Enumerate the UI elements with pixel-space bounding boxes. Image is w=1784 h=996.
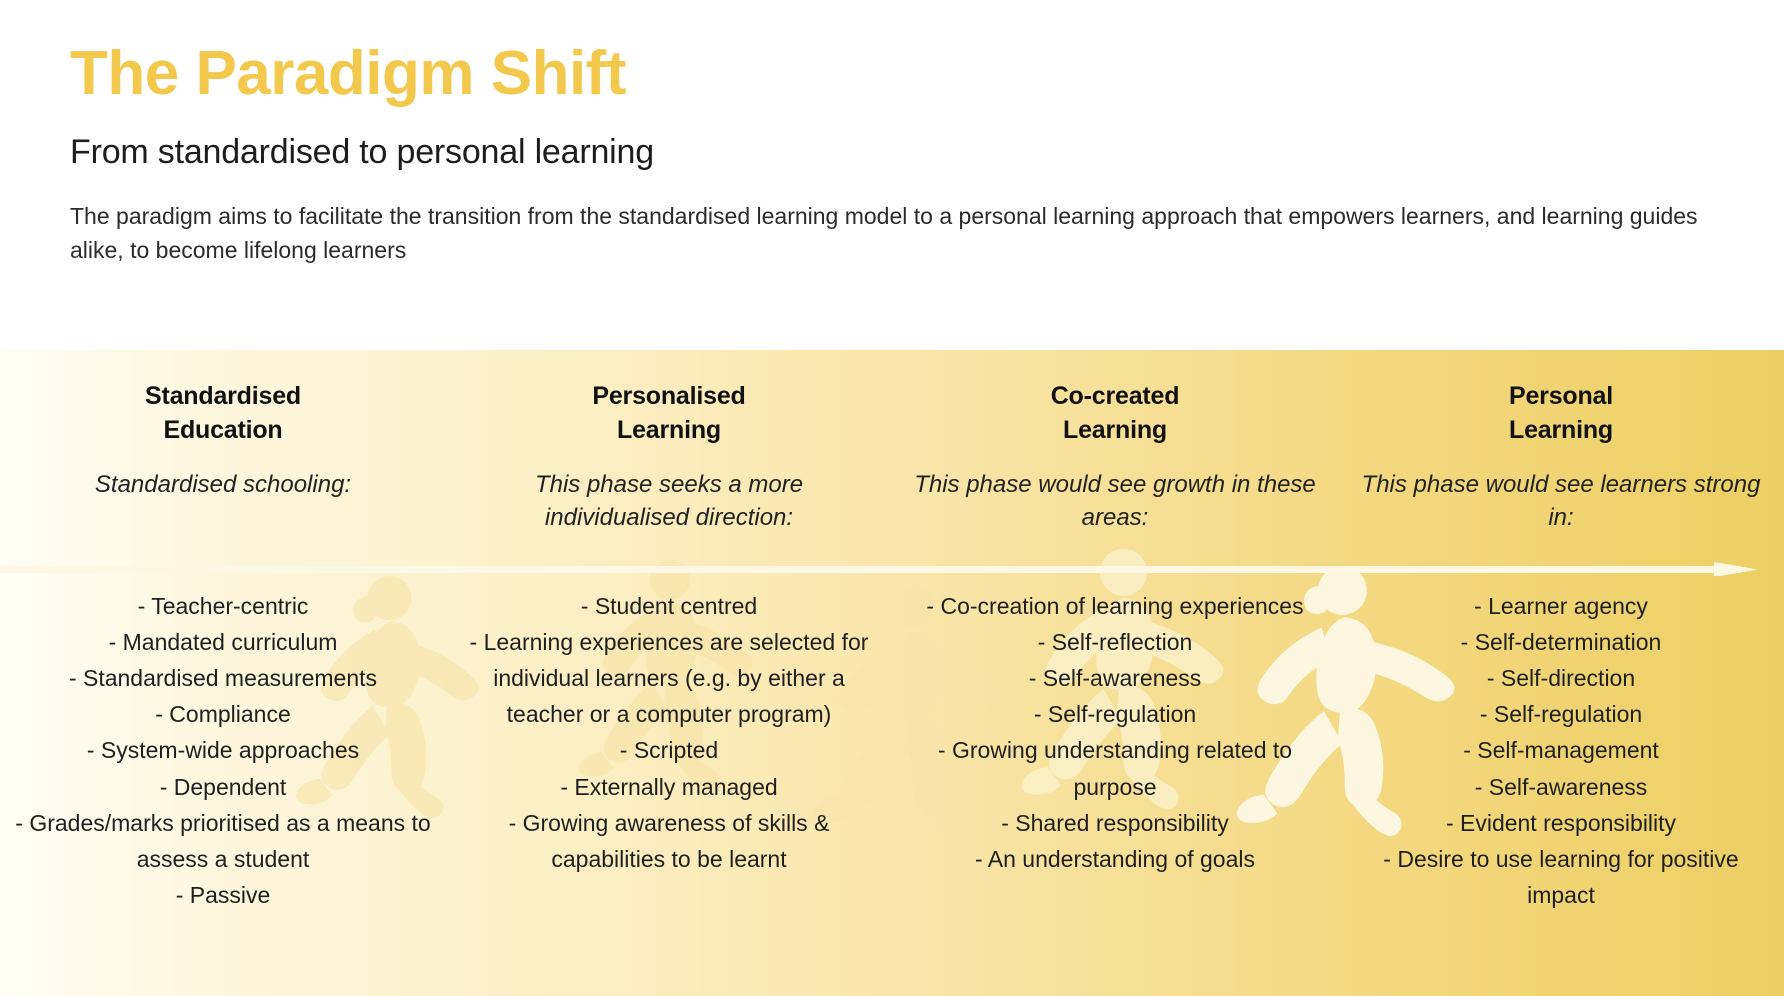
column-title: Co-created Learning <box>908 380 1322 448</box>
column-title-line-2: Learning <box>462 414 876 448</box>
list-item: - Learning experiences are selected for … <box>464 624 874 732</box>
list-item: - Shared responsibility <box>918 805 1312 841</box>
column-title: Personalised Learning <box>462 380 876 448</box>
column-item-list: - Co-creation of learning experiences - … <box>892 588 1338 877</box>
slide-canvas: The Paradigm Shift From standardised to … <box>0 0 1784 996</box>
list-item: - Self-regulation <box>1364 696 1758 732</box>
list-item: - Evident responsibility <box>1364 805 1758 841</box>
column-title: Personal Learning <box>1354 380 1768 448</box>
list-item: - Self-management <box>1364 732 1758 768</box>
list-item: - Co-creation of learning experiences <box>918 588 1312 624</box>
list-item: - Passive <box>4 877 442 913</box>
column-title-line-2: Learning <box>1354 414 1768 448</box>
list-item: - Self-regulation <box>918 696 1312 732</box>
column-item-list: - Learner agency - Self-determination - … <box>1338 588 1784 913</box>
column-title-line-1: Personalised <box>462 380 876 414</box>
paradigm-columns: Standardised Education Standardised scho… <box>0 350 1784 996</box>
list-item: - Teacher-centric <box>4 588 442 624</box>
list-item: - Self-direction <box>1364 660 1758 696</box>
column-title-line-2: Learning <box>908 414 1322 448</box>
list-item: - Self-determination <box>1364 624 1758 660</box>
list-item: - Externally managed <box>464 769 874 805</box>
column-lead: Standardised schooling: <box>16 468 430 501</box>
list-item: - Student centred <box>464 588 874 624</box>
slide-header: The Paradigm Shift From standardised to … <box>0 0 1784 350</box>
column-title-line-1: Co-created <box>908 380 1322 414</box>
column-item-list: - Teacher-centric - Mandated curriculum … <box>0 588 446 913</box>
list-item: - An understanding of goals <box>918 841 1312 877</box>
list-item: - Compliance <box>4 696 442 732</box>
list-item: - Grades/marks prioritised as a means to… <box>4 805 442 877</box>
list-item: - Mandated curriculum <box>4 624 442 660</box>
paradigm-column-personal-learning: Personal Learning This phase would see l… <box>1338 350 1784 996</box>
paradigm-band: Standardised Education Standardised scho… <box>0 350 1784 996</box>
list-item: - Self-awareness <box>918 660 1312 696</box>
list-item: - Dependent <box>4 769 442 805</box>
paradigm-column-standardised-education: Standardised Education Standardised scho… <box>0 350 446 996</box>
column-title-line-1: Standardised <box>16 380 430 414</box>
list-item: - Scripted <box>464 732 874 768</box>
list-item: - Desire to use learning for positive im… <box>1364 841 1758 913</box>
column-title: Standardised Education <box>16 380 430 448</box>
list-item: - Growing understanding related to purpo… <box>918 732 1312 804</box>
paradigm-column-personalised-learning: Personalised Learning This phase seeks a… <box>446 350 892 996</box>
column-title-line-2: Education <box>16 414 430 448</box>
list-item: - System-wide approaches <box>4 732 442 768</box>
list-item: - Growing awareness of skills & capabili… <box>464 805 874 877</box>
column-title-line-1: Personal <box>1354 380 1768 414</box>
column-item-list: - Student centred - Learning experiences… <box>446 588 892 877</box>
list-item: - Self-awareness <box>1364 769 1758 805</box>
column-lead: This phase would see growth in these are… <box>908 468 1322 534</box>
page-title: The Paradigm Shift <box>70 38 1714 109</box>
list-item: - Self-reflection <box>918 624 1312 660</box>
paradigm-column-co-created-learning: Co-created Learning This phase would see… <box>892 350 1338 996</box>
page-description: The paradigm aims to facilitate the tran… <box>70 200 1710 267</box>
column-lead: This phase seeks a more individualised d… <box>462 468 876 534</box>
column-lead: This phase would see learners strong in: <box>1354 468 1768 534</box>
page-subtitle: From standardised to personal learning <box>70 133 1714 172</box>
list-item: - Standardised measurements <box>4 660 442 696</box>
list-item: - Learner agency <box>1364 588 1758 624</box>
